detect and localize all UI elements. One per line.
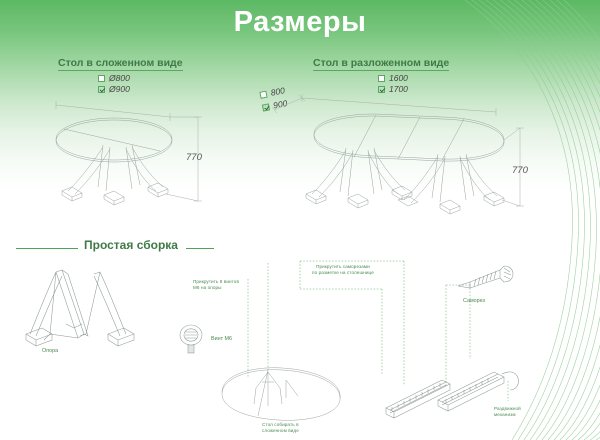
diameter-option-900[interactable]: Ø900 — [98, 84, 130, 94]
diameter-option-800[interactable]: Ø800 — [98, 73, 130, 83]
checkbox-length-1600[interactable] — [378, 75, 385, 82]
unfolded-section-title: Стол в разложенном виде — [313, 57, 449, 69]
page-title: Размеры — [0, 6, 600, 39]
annotation-slide-mechanism: Раздвижной механизм — [494, 406, 521, 418]
checkbox-label: 1600 — [389, 73, 408, 83]
slide-mechanism-drawing — [384, 366, 524, 428]
tabletop-assembly-drawing — [206, 360, 354, 420]
checkbox-width-800[interactable] — [259, 90, 267, 98]
divider-right — [186, 248, 214, 249]
assembly-title: Простая сборка — [84, 238, 178, 252]
folded-height-label: 770 — [186, 152, 202, 163]
unfolded-height-label: 770 — [512, 165, 528, 176]
checkbox-diameter-800[interactable] — [98, 75, 105, 82]
annotation-line-2: механизм — [494, 412, 521, 418]
annotation-line-2: сложенном виде — [262, 428, 299, 434]
unfolded-table-drawing — [272, 88, 532, 223]
folded-table-drawing — [48, 95, 238, 220]
length-option-1600[interactable]: 1600 — [378, 73, 408, 83]
checkbox-label: Ø800 — [109, 73, 130, 83]
checkbox-diameter-900[interactable] — [98, 86, 105, 93]
section-title-underline — [58, 70, 183, 71]
screw-part-drawing — [452, 262, 516, 298]
part-label-screw: Саморез — [463, 298, 485, 305]
annotation-assemble-folded: Стол собирать в сложенном виде — [262, 422, 299, 434]
divider-left — [16, 248, 78, 249]
checkbox-label: Ø900 — [109, 84, 130, 94]
section-title-underline — [313, 70, 449, 71]
page-root: Размеры Стол в сложенном виде Ø800 Ø900 — [0, 0, 600, 440]
folded-section-title: Стол в сложенном виде — [58, 57, 183, 69]
checkbox-width-900[interactable] — [262, 103, 270, 111]
